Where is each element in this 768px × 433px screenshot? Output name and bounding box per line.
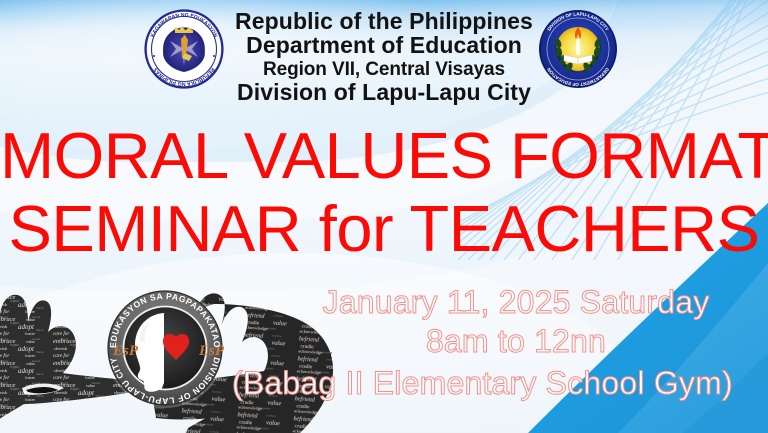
letterhead-line-republic: Republic of the Philippines (0, 10, 768, 33)
letterhead-text: Republic of the Philippines Department o… (0, 10, 768, 105)
event-date: January 11, 2025 Saturday (236, 284, 768, 320)
poster-canvas: Republic of the Philippines Department o… (0, 0, 768, 433)
deped-seal-icon: KAGAWARAN NG EDUKASYON REPUBLIKA NG PILI… (144, 9, 224, 89)
letterhead-line-division: Division of Lapu-Lapu City (0, 81, 768, 104)
letterhead-line-department: Department of Education (0, 34, 768, 57)
event-time: 8am to 12nn (236, 323, 768, 359)
esp-logo-icon: EsP EsP EDUKASYON SA PAGPAPAKATAO DIVISI… (104, 287, 226, 409)
letterhead-line-region: Region VII, Central Visayas (0, 60, 768, 79)
event-details: January 11, 2025 Saturday 8am to 12nn (B… (236, 284, 768, 401)
event-venue: (Babag II Elementary School Gym) (232, 365, 768, 401)
letterhead: Republic of the Philippines Department o… (0, 4, 768, 114)
division-lapu-lapu-seal-icon: DIVISION OF LAPU-LAPU CITY DEPARTMENT OF… (538, 9, 618, 89)
